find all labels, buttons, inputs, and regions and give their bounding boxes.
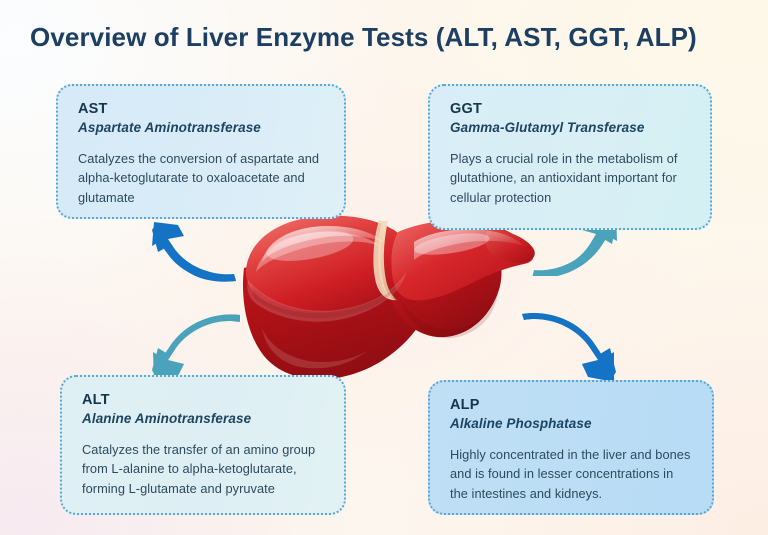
enzyme-full-name-alp: Alkaline Phosphatase xyxy=(450,415,694,433)
enzyme-full-name-alt: Alanine Aminotransferase xyxy=(82,410,326,428)
enzyme-full-name-ast: Aspartate Aminotransferase xyxy=(78,119,326,137)
enzyme-code-alt: ALT xyxy=(82,391,326,409)
enzyme-full-name-ggt: Gamma-Glutamyl Transferase xyxy=(450,119,692,137)
enzyme-card-alt[interactable]: ALT Alanine Aminotransferase Catalyzes t… xyxy=(60,375,346,515)
enzyme-card-ggt[interactable]: GGT Gamma-Glutamyl Transferase Plays a c… xyxy=(428,84,712,230)
enzyme-code-ast: AST xyxy=(78,100,326,118)
liver-illustration xyxy=(238,206,538,386)
enzyme-card-ast[interactable]: AST Aspartate Aminotransferase Catalyzes… xyxy=(56,84,346,219)
enzyme-description-ast: Catalyzes the conversion of aspartate an… xyxy=(78,149,326,207)
infographic-canvas: Overview of Liver Enzyme Tests (ALT, AST… xyxy=(0,0,768,535)
enzyme-description-ggt: Plays a crucial role in the metabolism o… xyxy=(450,149,692,207)
enzyme-card-alp[interactable]: ALP Alkaline Phosphatase Highly concentr… xyxy=(428,380,714,515)
enzyme-code-ggt: GGT xyxy=(450,100,692,118)
enzyme-description-alt: Catalyzes the transfer of an amino group… xyxy=(82,440,326,498)
enzyme-description-alp: Highly concentrated in the liver and bon… xyxy=(450,445,694,503)
enzyme-code-alp: ALP xyxy=(450,396,694,414)
page-title: Overview of Liver Enzyme Tests (ALT, AST… xyxy=(30,22,746,53)
